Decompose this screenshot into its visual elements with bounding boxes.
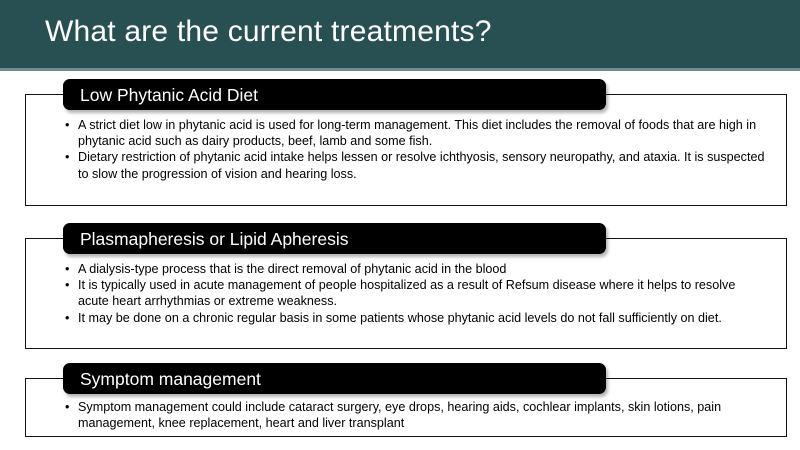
bullet-list-3: Symptom management could include catarac… [64,399,766,431]
box-header-tab-2: Plasmapheresis or Lipid Apheresis [63,223,606,254]
bullet-list-2: A dialysis-type process that is the dire… [64,261,766,326]
slide-title-banner: What are the current treatments? [0,0,800,71]
box-header-tab-3: Symptom management [63,363,606,394]
treatments-content: Low Phytanic Acid Diet A strict diet low… [0,71,800,450]
list-item: It is typically used in acute management… [64,277,766,309]
bullet-list-1: A strict diet low in phytanic acid is us… [64,117,766,182]
box-header-label-3: Symptom management [63,369,261,389]
box-header-label-2: Plasmapheresis or Lipid Apheresis [63,229,348,249]
treatment-box-plasmapheresis-or-lipid-apheresis: Plasmapheresis or Lipid Apheresis A dial… [25,238,787,349]
treatment-box-symptom-management: Symptom management Symptom management co… [25,378,787,437]
list-item: It may be done on a chronic regular basi… [64,310,766,326]
page-title: What are the current treatments? [45,12,492,52]
list-item: A dialysis-type process that is the dire… [64,261,766,277]
box-header-tab-1: Low Phytanic Acid Diet [63,79,606,110]
box-header-label-1: Low Phytanic Acid Diet [63,85,258,105]
list-item: A strict diet low in phytanic acid is us… [64,117,766,149]
list-item: Symptom management could include catarac… [64,399,766,431]
treatment-box-low-phytanic-acid-diet: Low Phytanic Acid Diet A strict diet low… [25,94,787,206]
list-item: Dietary restriction of phytanic acid int… [64,149,766,181]
